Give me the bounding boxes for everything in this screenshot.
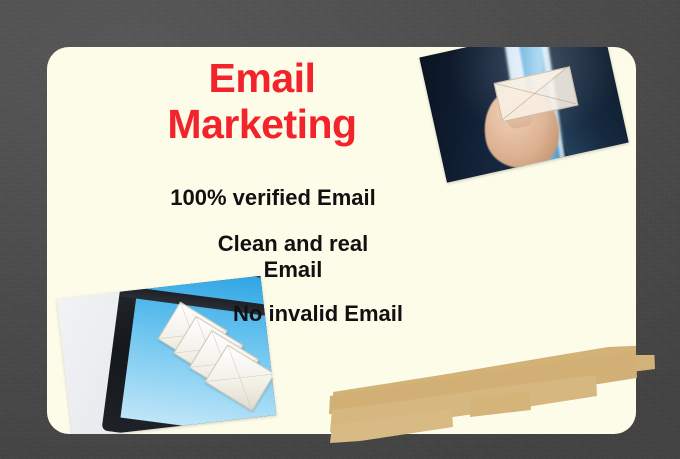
list-item: 100% verified Email [47, 185, 517, 211]
list-item: Clean and real Email [69, 231, 517, 283]
content-card: Email Marketing 100% verified Email Clea… [47, 47, 636, 434]
poster-canvas: Email Marketing 100% verified Email Clea… [0, 0, 680, 459]
page-title: Email Marketing [47, 56, 477, 148]
list-item: No invalid Email [119, 301, 517, 327]
feature-list: 100% verified Email Clean and real Email… [47, 185, 517, 327]
